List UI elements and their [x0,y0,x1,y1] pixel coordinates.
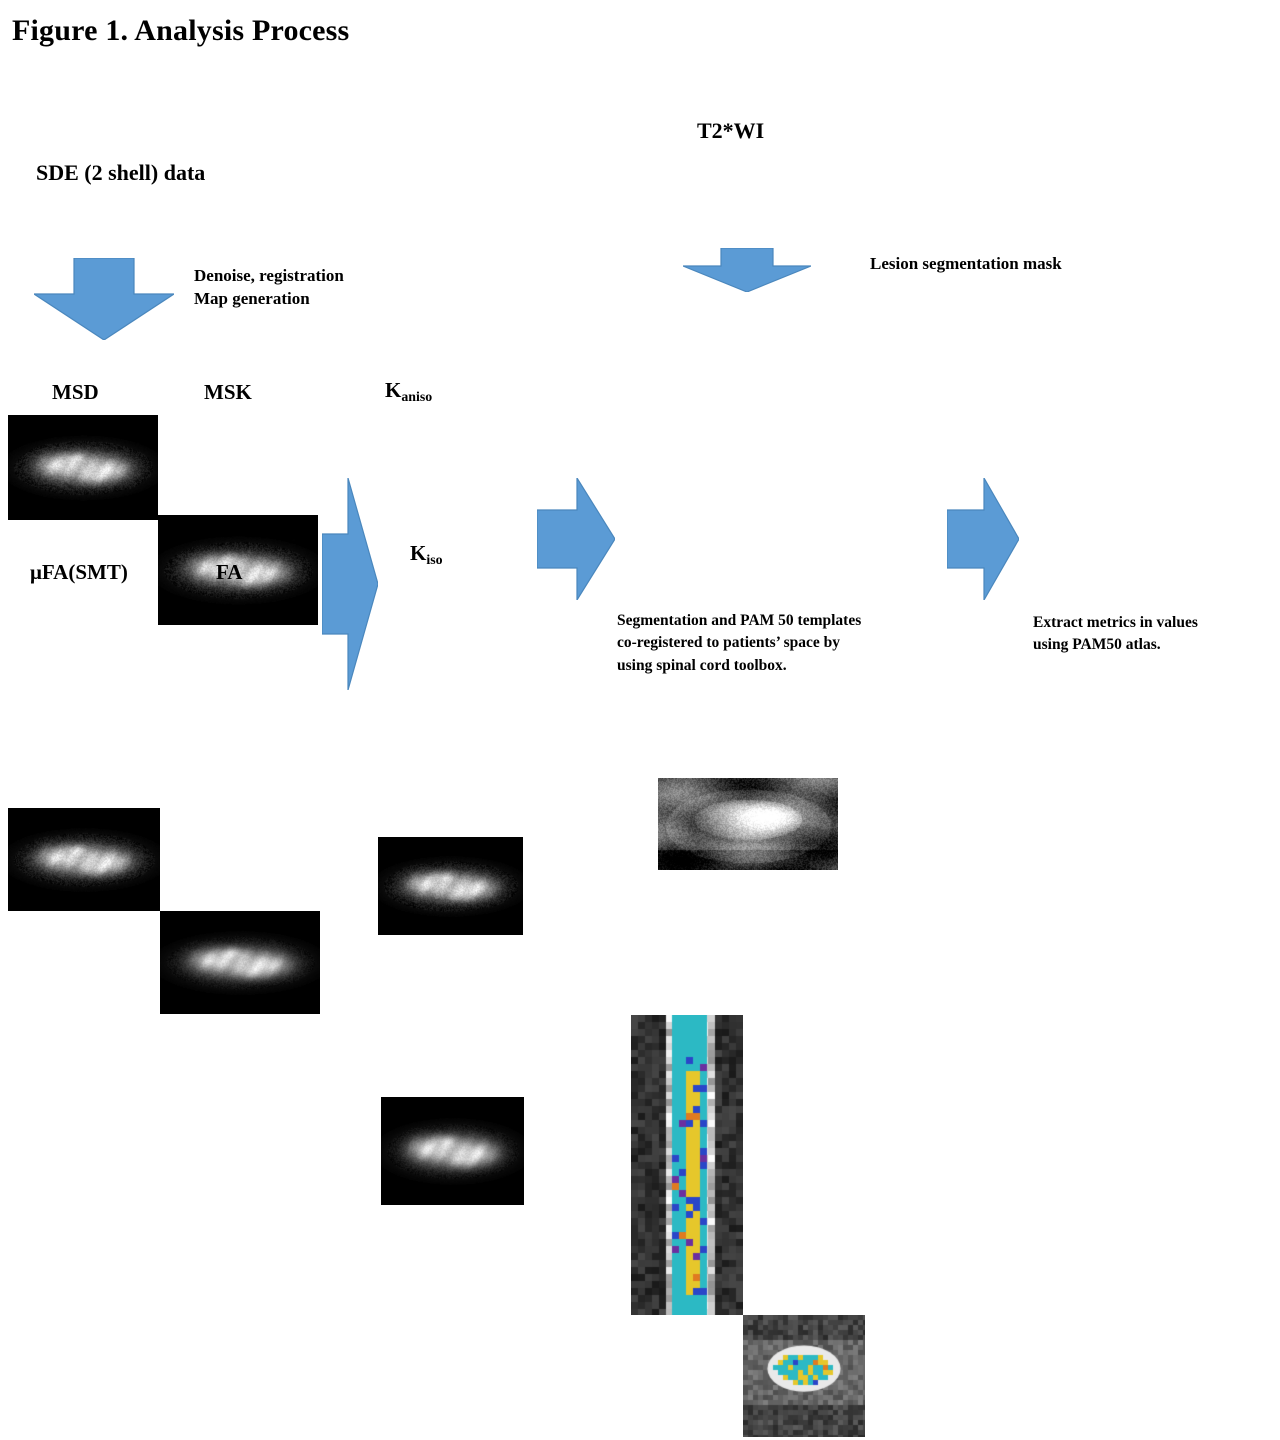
map-image-msd [8,415,158,520]
extract-caption: Extract metrics in values using PAM50 at… [1033,612,1198,657]
registered-axial-overlay-image [743,1315,865,1437]
sde-input-label: SDE (2 shell) data [36,160,205,186]
kiso-label: Kiso [410,541,443,566]
msd-label: MSD [52,380,99,405]
map-image-kaniso [378,837,523,935]
registered-sagittal-image [631,1015,743,1315]
mufa-label: μFA(SMT) [30,560,128,585]
page-title: Figure 1. Analysis Process [12,14,349,48]
kaniso-label-base: K [385,378,401,402]
kaniso-label-sub: aniso [401,389,432,404]
msk-label: MSK [204,380,252,405]
segmentation-caption-line2: co-registered to patients’ space by [617,632,861,654]
t2star-label: T2*WI [697,118,764,144]
map-image-fa [160,911,320,1014]
lesion-mask-label: Lesion segmentation mask [870,252,1062,277]
extract-caption-line2: using PAM50 atlas. [1033,634,1198,656]
segmentation-caption-line3: using spinal cord toolbox. [617,655,861,677]
map-image-mufa [8,808,160,911]
registration-arrow [537,478,615,600]
kiso-label-sub: iso [426,552,442,567]
fa-label: FA [216,560,242,585]
t2star-image [658,778,838,870]
extract-arrow [947,478,1019,600]
map-image-kiso [381,1097,524,1205]
denoise-step-line2: Map generation [194,287,344,310]
segmentation-caption-line1: Segmentation and PAM 50 templates [617,610,861,632]
extract-caption-line1: Extract metrics in values [1033,612,1198,634]
segmentation-caption: Segmentation and PAM 50 templates co-reg… [617,610,861,677]
t2star-to-mask-arrow [683,248,811,292]
maps-to-kmaps-arrow [322,478,378,690]
kiso-label-base: K [410,541,426,565]
denoise-step-line1: Denoise, registration [194,264,344,287]
denoise-step-note: Denoise, registration Map generation [194,264,344,311]
kaniso-label: Kaniso [385,378,432,403]
denoise-arrow [34,258,174,340]
